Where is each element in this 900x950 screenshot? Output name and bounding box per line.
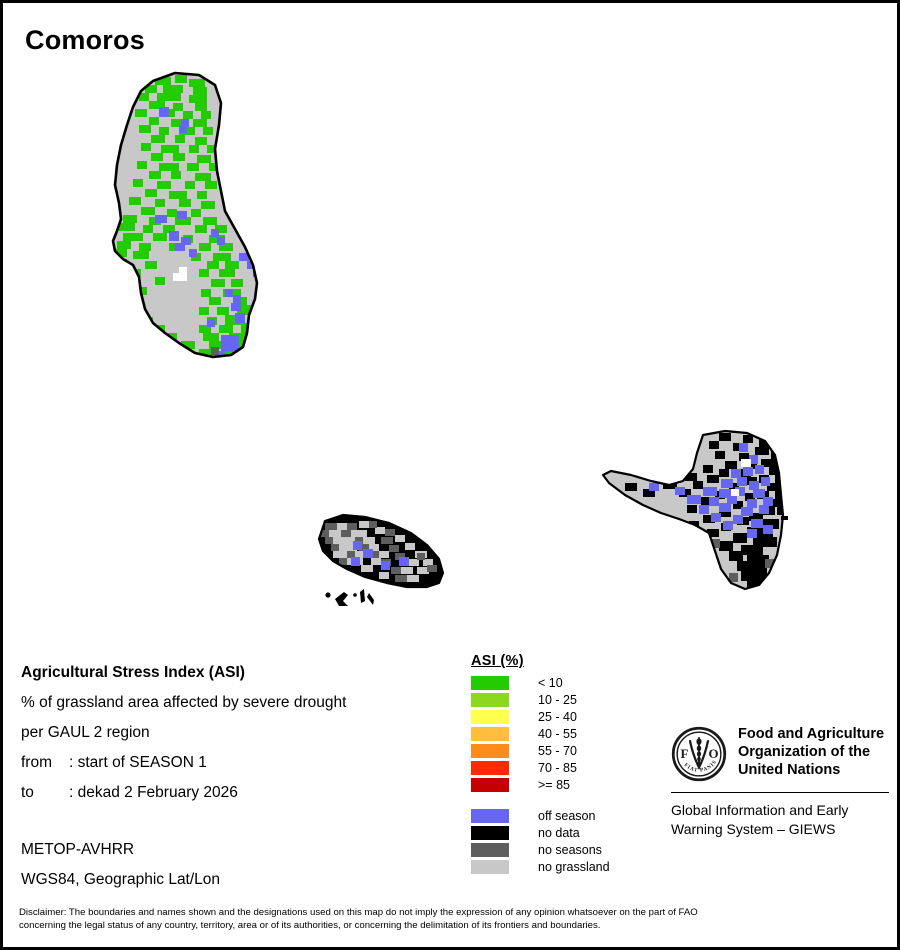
legend-class-swatch (471, 693, 509, 707)
info-from-value: : start of SEASON 1 (69, 748, 451, 778)
legend-class-row[interactable]: 25 - 40 (471, 708, 661, 725)
fao-branding: F O FIAT PANIS Food and Agriculture Orga… (671, 725, 889, 839)
map-page: Comoros (0, 0, 900, 950)
legend-class-swatch (471, 727, 509, 741)
giews-line1: Global Information and Early (671, 801, 889, 820)
fao-name-line1: Food and Agriculture (738, 725, 884, 743)
info-subtitle: % of grassland area affected by severe d… (21, 688, 451, 718)
fao-header: F O FIAT PANIS Food and Agriculture Orga… (671, 725, 889, 783)
info-to-label: to (21, 778, 69, 808)
legend: ASI (%) < 1010 - 2525 - 4040 - 5555 - 70… (471, 653, 661, 875)
legend-class-swatch (471, 676, 509, 690)
island-anjouan (598, 428, 798, 598)
legend-special-row[interactable]: no seasons (471, 841, 661, 858)
info-to-value: : dekad 2 February 2026 (69, 778, 451, 808)
giews-name: Global Information and Early Warning Sys… (671, 801, 889, 839)
island-moheli (313, 508, 453, 606)
info-title: Agricultural Stress Index (ASI) (21, 658, 451, 688)
info-block: Agricultural Stress Index (ASI) % of gra… (21, 658, 451, 808)
disclaimer: Disclaimer: The boundaries and names sho… (19, 906, 885, 932)
legend-class-row[interactable]: 10 - 25 (471, 691, 661, 708)
legend-class-swatch (471, 778, 509, 792)
legend-special-label: no grassland (538, 860, 610, 874)
legend-special-label: off season (538, 809, 595, 823)
legend-class-label: 70 - 85 (538, 761, 577, 775)
legend-special-swatch (471, 809, 509, 823)
legend-class-swatch (471, 744, 509, 758)
sensor-label: METOP-AVHRR (21, 835, 451, 865)
legend-class-swatch (471, 761, 509, 775)
projection-label: WGS84, Geographic Lat/Lon (21, 865, 451, 895)
island-grande-comore (103, 63, 283, 373)
legend-class-label: 55 - 70 (538, 744, 577, 758)
source-block: METOP-AVHRR WGS84, Geographic Lat/Lon (21, 835, 451, 895)
legend-spacer (471, 793, 661, 807)
info-to-row: to : dekad 2 February 2026 (21, 778, 451, 808)
legend-class-label: 25 - 40 (538, 710, 577, 724)
svg-text:F: F (681, 747, 689, 761)
comoros-map (3, 3, 900, 643)
legend-class-label: 10 - 25 (538, 693, 577, 707)
svg-text:O: O (709, 747, 719, 761)
legend-special-swatch (471, 860, 509, 874)
legend-class-label: < 10 (538, 676, 563, 690)
disclaimer-line1: Disclaimer: The boundaries and names sho… (19, 906, 885, 919)
legend-special-swatch (471, 843, 509, 857)
fao-name: Food and Agriculture Organization of the… (738, 725, 884, 779)
disclaimer-line2: concerning the legal status of any count… (19, 919, 885, 932)
legend-class-swatch (471, 710, 509, 724)
legend-class-row[interactable]: 40 - 55 (471, 725, 661, 742)
fao-name-line3: United Nations (738, 761, 884, 779)
legend-special-label: no data (538, 826, 580, 840)
fao-name-line2: Organization of the (738, 743, 884, 761)
legend-special-label: no seasons (538, 843, 602, 857)
legend-class-label: 40 - 55 (538, 727, 577, 741)
fao-divider (671, 792, 889, 793)
giews-line2: Warning System – GIEWS (671, 820, 889, 839)
fao-logo-icon: F O FIAT PANIS (671, 725, 727, 783)
legend-class-row[interactable]: >= 85 (471, 776, 661, 793)
legend-special-row[interactable]: off season (471, 807, 661, 824)
legend-title: ASI (%) (471, 653, 661, 669)
legend-class-row[interactable]: 55 - 70 (471, 742, 661, 759)
islets (325, 589, 374, 606)
info-from-label: from (21, 748, 69, 778)
legend-class-label: >= 85 (538, 778, 570, 792)
info-from-row: from : start of SEASON 1 (21, 748, 451, 778)
legend-special-list: off seasonno datano seasonsno grassland (471, 807, 661, 875)
legend-class-list: < 1010 - 2525 - 4040 - 5555 - 7070 - 85>… (471, 674, 661, 793)
info-region: per GAUL 2 region (21, 718, 451, 748)
legend-special-swatch (471, 826, 509, 840)
legend-special-row[interactable]: no grassland (471, 858, 661, 875)
legend-special-row[interactable]: no data (471, 824, 661, 841)
legend-class-row[interactable]: < 10 (471, 674, 661, 691)
legend-class-row[interactable]: 70 - 85 (471, 759, 661, 776)
